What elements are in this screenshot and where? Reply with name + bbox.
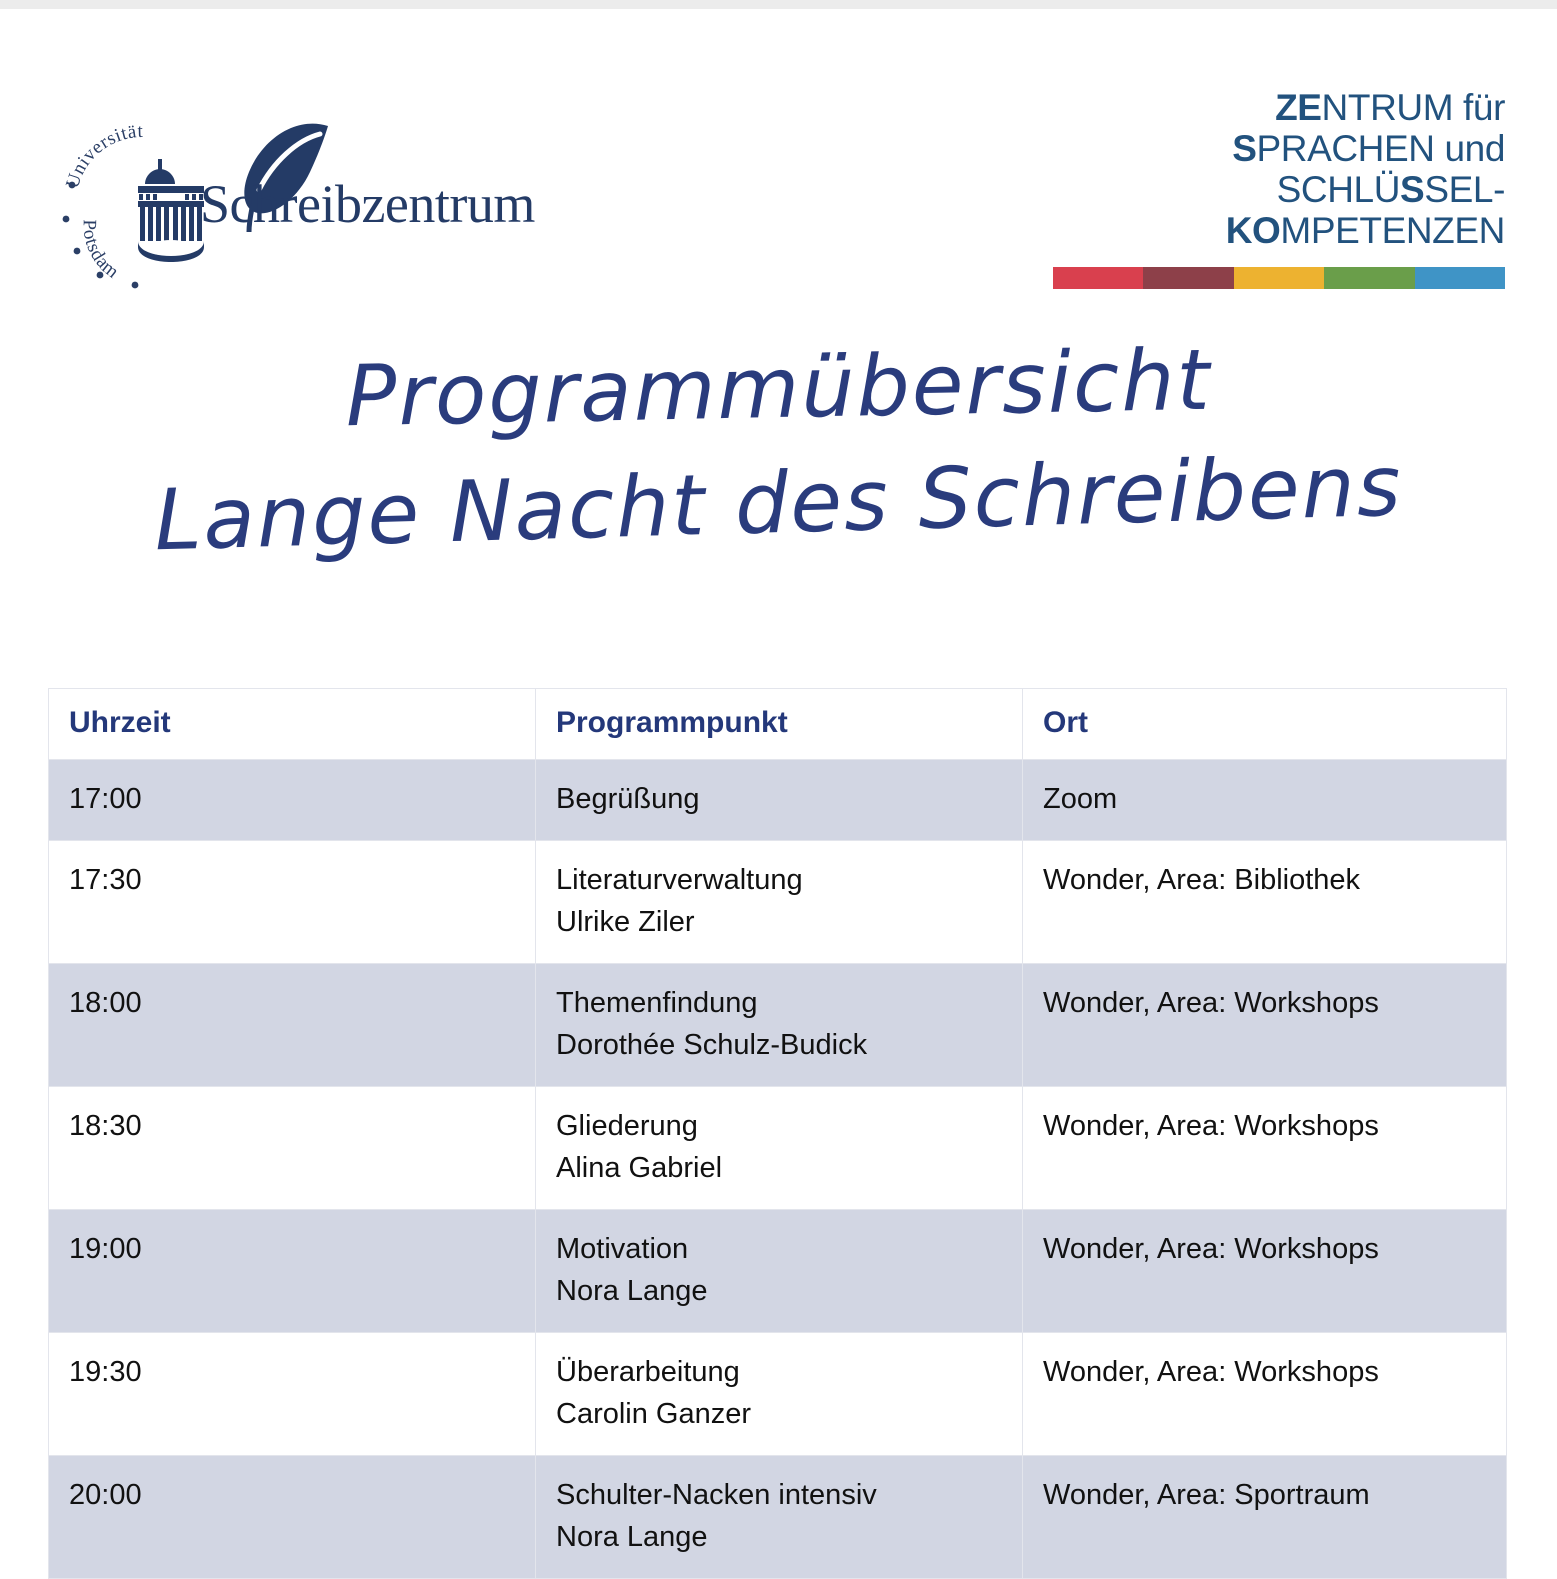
- table-row: 17:30LiteraturverwaltungUlrike ZilerWond…: [49, 841, 1507, 964]
- zess-color-bar-segment-5: [1415, 267, 1505, 289]
- zess-line-3-rest: SEL-: [1424, 169, 1505, 210]
- page-title: Programmübersicht Lange Nacht des Schrei…: [0, 329, 1557, 619]
- cell-ort: Wonder, Area: Bibliothek: [1023, 841, 1507, 964]
- column-header-uhrzeit: Uhrzeit: [49, 689, 536, 760]
- zess-line-4: KOMPETENZEN: [1035, 210, 1505, 251]
- cell-programmpunkt: Schulter-Nacken intensivNora Lange: [536, 1456, 1023, 1579]
- cell-programmpunkt: Begrüßung: [536, 760, 1023, 841]
- schedule-table-head: Uhrzeit Programmpunkt Ort: [49, 689, 1507, 760]
- cell-programmpunkt: ÜberarbeitungCarolin Ganzer: [536, 1333, 1023, 1456]
- zess-color-bar-segment-2: [1143, 267, 1233, 289]
- programmpunkt-title: Begrüßung: [556, 778, 1002, 820]
- header-logo-row: Universität Potsdam: [0, 69, 1557, 299]
- programmpunkt-title: Überarbeitung: [556, 1351, 1002, 1393]
- page-top-strip: [0, 0, 1557, 9]
- cell-ort: Wonder, Area: Workshops: [1023, 964, 1507, 1087]
- cell-time: 19:00: [49, 1210, 536, 1333]
- schedule-table-wrapper: Uhrzeit Programmpunkt Ort 17:00Begrüßung…: [48, 688, 1506, 1579]
- table-row: 19:30ÜberarbeitungCarolin GanzerWonder, …: [49, 1333, 1507, 1456]
- cell-ort: Wonder, Area: Workshops: [1023, 1210, 1507, 1333]
- zess-line-3-pre: SCHLÜ: [1277, 169, 1400, 210]
- programmpunkt-title: Literaturverwaltung: [556, 859, 1002, 901]
- table-row: 20:00Schulter-Nacken intensivNora LangeW…: [49, 1456, 1507, 1579]
- zess-line-2-rest: PRACHEN und: [1256, 128, 1505, 169]
- cell-programmpunkt: MotivationNora Lange: [536, 1210, 1023, 1333]
- schreibzentrum-wordmark: Schreibzentrum: [200, 173, 535, 235]
- programmpunkt-title: Gliederung: [556, 1105, 1002, 1147]
- column-header-programmpunkt: Programmpunkt: [536, 689, 1023, 760]
- cell-ort: Wonder, Area: Sportraum: [1023, 1456, 1507, 1579]
- programmpunkt-title: Motivation: [556, 1228, 1002, 1270]
- cell-ort: Wonder, Area: Workshops: [1023, 1333, 1507, 1456]
- cell-time: 17:00: [49, 760, 536, 841]
- table-row: 18:30GliederungAlina GabrielWonder, Area…: [49, 1087, 1507, 1210]
- cell-programmpunkt: GliederungAlina Gabriel: [536, 1087, 1023, 1210]
- zess-logo: ZENTRUM für SPRACHEN und SCHLÜSSEL- KOMP…: [1035, 87, 1505, 292]
- zess-line-2: SPRACHEN und: [1035, 128, 1505, 169]
- programmpunkt-title: Schulter-Nacken intensiv: [556, 1474, 1002, 1516]
- document-page: Universität Potsdam: [0, 9, 1557, 1488]
- cell-programmpunkt: ThemenfindungDorothée Schulz-Budick: [536, 964, 1023, 1087]
- zess-color-bar-segment-4: [1324, 267, 1414, 289]
- cell-time: 20:00: [49, 1456, 536, 1579]
- cell-time: 18:30: [49, 1087, 536, 1210]
- zess-line-2-bold: S: [1232, 128, 1256, 169]
- programmpunkt-presenter: Nora Lange: [556, 1516, 1002, 1558]
- zess-line-3: SCHLÜSSEL-: [1035, 169, 1505, 210]
- cell-ort: Zoom: [1023, 760, 1507, 841]
- cell-ort: Wonder, Area: Workshops: [1023, 1087, 1507, 1210]
- programmpunkt-presenter: Alina Gabriel: [556, 1147, 1002, 1189]
- table-header-row: Uhrzeit Programmpunkt Ort: [49, 689, 1507, 760]
- zess-color-bar-segment-1: [1053, 267, 1143, 289]
- programmpunkt-title: Themenfindung: [556, 982, 1002, 1024]
- zess-line-1: ZENTRUM für: [1035, 87, 1505, 128]
- zess-line-3-bold: S: [1400, 169, 1424, 210]
- programmpunkt-presenter: Dorothée Schulz-Budick: [556, 1024, 1002, 1066]
- column-header-ort: Ort: [1023, 689, 1507, 760]
- schedule-table: Uhrzeit Programmpunkt Ort 17:00Begrüßung…: [48, 688, 1507, 1579]
- table-row: 19:00MotivationNora LangeWonder, Area: W…: [49, 1210, 1507, 1333]
- schedule-table-body: 17:00BegrüßungZoom17:30Literaturverwaltu…: [49, 760, 1507, 1579]
- zess-line-1-bold: ZE: [1275, 87, 1321, 128]
- zess-line-4-rest: MPETENZEN: [1280, 210, 1505, 251]
- cell-time: 19:30: [49, 1333, 536, 1456]
- zess-color-bar: [1053, 267, 1505, 289]
- programmpunkt-presenter: Carolin Ganzer: [556, 1393, 1002, 1435]
- programmpunkt-presenter: Ulrike Ziler: [556, 901, 1002, 943]
- schreibzentrum-logo: Universität Potsdam: [52, 117, 532, 297]
- zess-line-4-bold: KO: [1226, 210, 1281, 251]
- zess-line-1-rest: NTRUM für: [1322, 87, 1505, 128]
- table-row: 18:00ThemenfindungDorothée Schulz-Budick…: [49, 964, 1507, 1087]
- cell-programmpunkt: LiteraturverwaltungUlrike Ziler: [536, 841, 1023, 964]
- cell-time: 18:00: [49, 964, 536, 1087]
- table-row: 17:00BegrüßungZoom: [49, 760, 1507, 841]
- cell-time: 17:30: [49, 841, 536, 964]
- svg-text:Universität: Universität: [62, 121, 144, 191]
- zess-color-bar-segment-3: [1234, 267, 1324, 289]
- programmpunkt-presenter: Nora Lange: [556, 1270, 1002, 1312]
